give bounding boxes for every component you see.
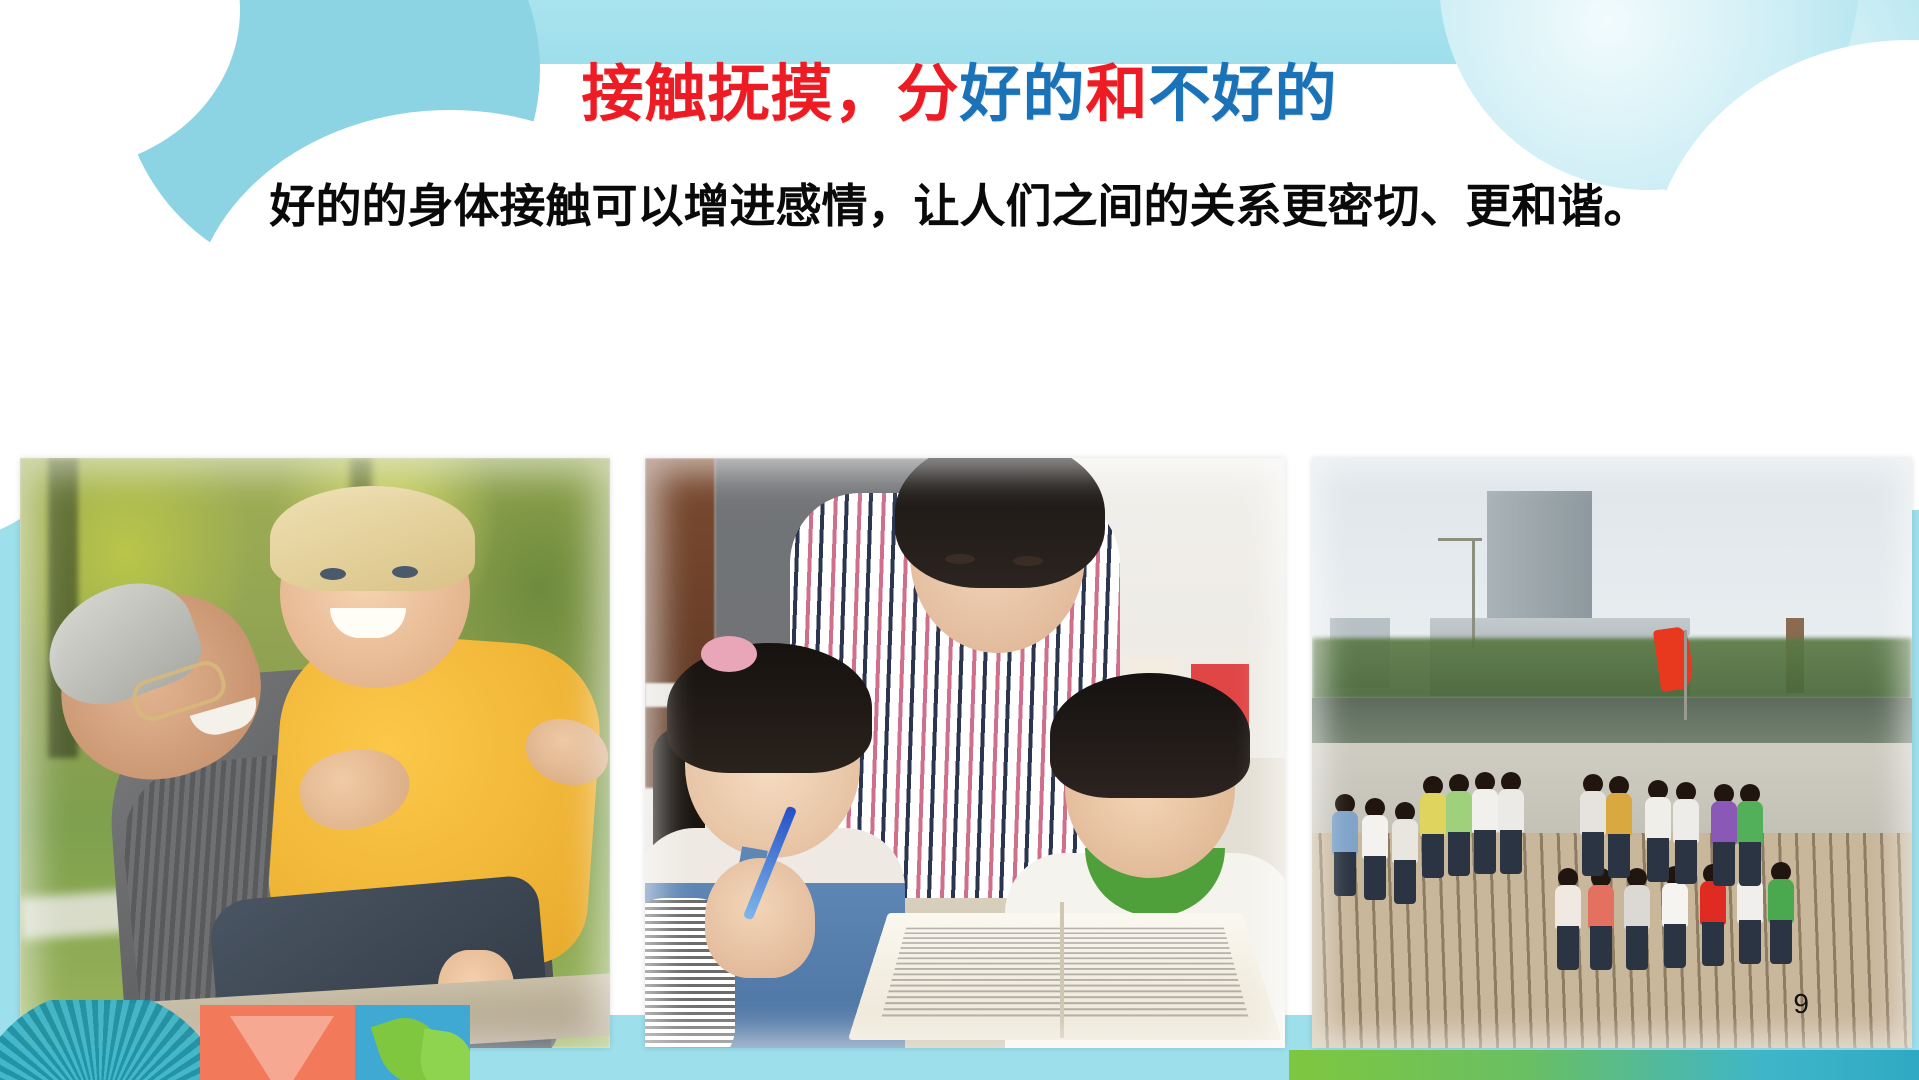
title-segment-3: 和 [1086,57,1149,130]
photo-2-vignette [645,458,1285,1048]
photo-teacher-and-students [645,458,1285,1048]
slide-subtitle: 好的的身体接触可以增进感情，让人们之间的关系更密切、更和谐。 [0,170,1919,236]
decor-bottom-right-bar [1289,1050,1919,1080]
photo-row [0,458,1919,1048]
photo-1-vignette [20,458,610,1048]
photo-3-vignette [1312,458,1912,1048]
photo-3-content [1312,458,1912,1048]
title-segment-2: 好的 [959,57,1085,130]
photo-students-in-circle [1312,458,1912,1048]
title-segment-4: 不好的 [1149,57,1338,130]
slide-title: 接触抚摸，分好的和不好的 [0,60,1919,128]
photo-grandfather-and-boy [20,458,610,1048]
photo-2-content [645,458,1285,1048]
page-number: 9 [1793,988,1809,1020]
decor-teal-fan [0,1000,230,1080]
decor-chevron [230,1016,334,1080]
title-segment-1: 接触抚摸，分 [581,57,959,130]
photo-1-content [20,458,610,1048]
slide: 接触抚摸，分好的和不好的 好的的身体接触可以增进感情，让人们之间的关系更密切、更… [0,0,1919,1080]
decor-bottom-left-graphic [0,1000,470,1080]
